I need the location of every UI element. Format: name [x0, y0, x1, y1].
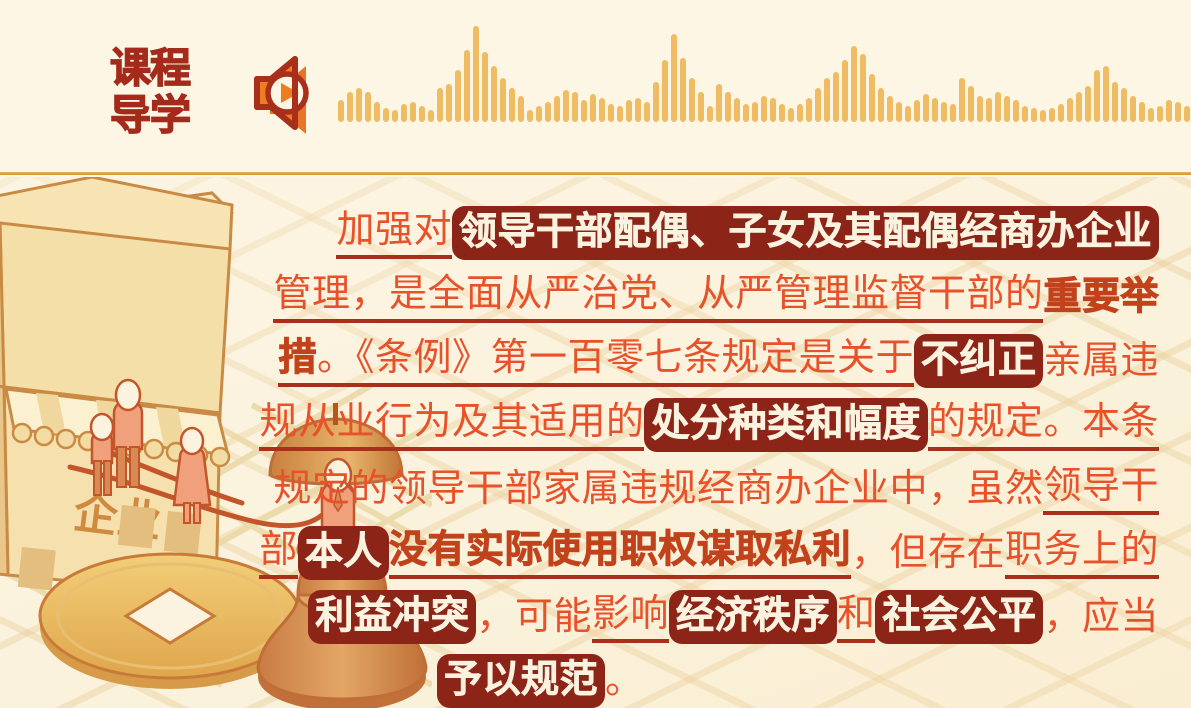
emphasis-underlined-text: 措: [278, 335, 317, 387]
waveform-bar: [473, 26, 479, 122]
brand-title-line1: 课程: [110, 45, 230, 92]
waveform-bar: [905, 106, 911, 122]
waveform-bar: [464, 50, 470, 122]
waveform-bar: [770, 98, 776, 122]
waveform-bar: [689, 78, 695, 122]
waveform-bar: [1049, 108, 1055, 122]
waveform-bar: [824, 78, 830, 122]
waveform-bar: [1085, 86, 1091, 122]
waveform-bar: [1121, 88, 1127, 122]
waveform-bar: [509, 88, 515, 122]
waveform-bar: [842, 60, 848, 122]
audio-waveform: [338, 18, 1158, 122]
waveform-bar: [995, 92, 1001, 122]
waveform-bar: [815, 88, 821, 122]
waveform-bar: [707, 106, 713, 122]
waveform-bar: [1166, 100, 1172, 122]
waveform-bar: [878, 88, 884, 122]
waveform-bar: [950, 104, 956, 122]
waveform-bar: [536, 106, 542, 122]
waveform-bar: [1157, 106, 1163, 122]
waveform-bar: [356, 88, 362, 122]
article-line: 加强对领导干部配偶、子女及其配偶经商办企业: [437, 201, 1159, 265]
waveform-bar: [959, 78, 965, 122]
waveform-bar: [1067, 98, 1073, 122]
highlight-pill: 社会公平: [875, 590, 1043, 644]
article-line: 规定的领导干部家属违规经商办企业中，虽然领导干: [437, 457, 1159, 521]
article-line: 措。《条例》第一百零七条规定是关于不纠正亲属违: [437, 329, 1159, 393]
waveform-bar: [518, 96, 524, 122]
waveform-bar: [545, 102, 551, 122]
underlined-text: 的规定。本条: [928, 399, 1159, 451]
waveform-bar: [347, 92, 353, 122]
waveform-bar: [491, 66, 497, 122]
waveform-bar: [734, 98, 740, 122]
highlight-pill: 不纠正: [914, 334, 1044, 388]
waveform-bar: [644, 102, 650, 122]
waveform-bar: [410, 102, 416, 122]
waveform-bar: [1148, 108, 1154, 122]
plain-text: ，应当: [1043, 594, 1159, 640]
waveform-bar: [725, 92, 731, 122]
waveform-bar: [563, 90, 569, 122]
waveform-bar: [338, 100, 344, 122]
plain-text: ，但存在: [851, 530, 1005, 576]
waveform-bar: [1076, 92, 1082, 122]
waveform-bar: [374, 102, 380, 122]
waveform-bar: [779, 104, 785, 122]
waveform-bar: [743, 104, 749, 122]
underlined-text: 。《条例》第一百零七条规定是关于: [317, 335, 914, 387]
plain-text: 亲属违: [1043, 338, 1159, 384]
waveform-bar: [698, 92, 704, 122]
waveform-bar: [680, 58, 686, 122]
article-line: 管理，是全面从严治党、从严管理监督干部的重要举: [437, 265, 1159, 329]
waveform-bar: [401, 104, 407, 122]
article-line: 部本人没有实际使用职权谋取私利，但存在职务上的: [437, 521, 1159, 585]
waveform-bar: [968, 86, 974, 122]
plain-text: ，可能: [476, 594, 592, 640]
waveform-bar: [599, 98, 605, 122]
waveform-bar: [635, 98, 641, 122]
underlined-text: 职务上的: [1005, 527, 1159, 579]
underlined-text: 部: [259, 527, 298, 579]
waveform-bar: [986, 98, 992, 122]
waveform-bar: [1175, 102, 1181, 122]
waveform-bar: [419, 106, 425, 122]
waveform-bar: [860, 54, 866, 122]
brand-title-line2: 导学: [110, 92, 230, 139]
waveform-bar: [914, 100, 920, 122]
highlight-pill: 经济秩序: [669, 590, 837, 644]
waveform-bar: [482, 52, 488, 122]
highlight-pill: 本人: [298, 526, 389, 580]
waveform-bar: [653, 82, 659, 122]
waveform-bar: [923, 94, 929, 122]
slide-canvas: 课程 导学: [0, 0, 1191, 708]
waveform-bar: [554, 96, 560, 122]
waveform-bar: [500, 78, 506, 122]
waveform-bar: [896, 102, 902, 122]
highlight-pill: 予以规范: [437, 654, 605, 708]
article-line: 予以规范。: [437, 649, 1159, 708]
article-line: 利益冲突，可能影响经济秩序和社会公平，应当: [437, 585, 1159, 649]
waveform-bar: [788, 108, 794, 122]
content-area: 企业: [0, 177, 1191, 708]
waveform-bar: [428, 110, 434, 122]
plain-text: 规定的领导干部家属违规经商办企业中，虽然: [273, 466, 1043, 512]
header-divider-rule: [0, 172, 1191, 175]
waveform-bar: [833, 72, 839, 122]
waveform-bar: [1031, 108, 1037, 122]
brand-title: 课程 导学: [110, 44, 230, 140]
waveform-bar: [1103, 66, 1109, 122]
waveform-bar: [1022, 106, 1028, 122]
waveform-bar: [941, 102, 947, 122]
article-line: 规从业行为及其适用的处分种类和幅度的规定。本条: [437, 393, 1159, 457]
waveform-bar: [662, 60, 668, 122]
waveform-bar: [626, 100, 632, 122]
waveform-bar: [806, 98, 812, 122]
waveform-bar: [1058, 104, 1064, 122]
emphasis-text: 重要举: [1043, 274, 1159, 320]
waveform-bar: [671, 34, 677, 122]
highlight-pill: 处分种类和幅度: [644, 398, 928, 452]
waveform-bar: [437, 88, 443, 122]
waveform-bar: [608, 104, 614, 122]
waveform-bar: [932, 98, 938, 122]
waveform-bar: [797, 104, 803, 122]
highlight-pill: 利益冲突: [308, 590, 476, 644]
waveform-bar: [887, 96, 893, 122]
underlined-text: 管理，是全面从严治党、从严管理监督干部的: [273, 271, 1043, 323]
waveform-bar: [1040, 110, 1046, 122]
waveform-bar: [392, 110, 398, 122]
waveform-bar: [590, 94, 596, 122]
waveform-bar: [716, 84, 722, 122]
waveform-bar: [1130, 96, 1136, 122]
waveform-bar: [365, 92, 371, 122]
waveform-bar: [1184, 106, 1190, 122]
figure-man-small: [91, 414, 113, 495]
waveform-bar: [383, 108, 389, 122]
waveform-bar: [455, 70, 461, 122]
waveform-bar: [527, 110, 533, 122]
waveform-bar: [977, 96, 983, 122]
speaker-play-icon[interactable]: [237, 47, 329, 137]
waveform-bar: [1013, 100, 1019, 122]
waveform-bar: [617, 106, 623, 122]
underlined-text: 领导干: [1043, 463, 1159, 515]
highlight-pill: 领导干部配偶、子女及其配偶经商办企业: [452, 206, 1159, 260]
waveform-bar: [761, 96, 767, 122]
waveform-bar: [869, 74, 875, 122]
waveform-bar: [1112, 82, 1118, 122]
article-text: 加强对领导干部配偶、子女及其配偶经商办企业管理，是全面从严治党、从严管理监督干部…: [437, 201, 1159, 708]
waveform-bar: [752, 102, 758, 122]
waveform-bar: [1004, 96, 1010, 122]
waveform-bar: [1094, 70, 1100, 122]
emphasis-underlined-text: 没有实际使用职权谋取私利: [389, 527, 851, 579]
waveform-bar: [446, 84, 452, 122]
waveform-bar: [1139, 102, 1145, 122]
underlined-text: 影响: [592, 591, 669, 643]
underlined-text: 加强对: [336, 207, 452, 259]
waveform-bar: [581, 100, 587, 122]
underlined-text: 规从业行为及其适用的: [259, 399, 644, 451]
header-bar: 课程 导学: [0, 0, 1191, 175]
plain-text: 。: [605, 658, 644, 704]
underlined-text: 和: [837, 591, 876, 643]
waveform-bar: [851, 46, 857, 122]
waveform-bar: [572, 92, 578, 122]
